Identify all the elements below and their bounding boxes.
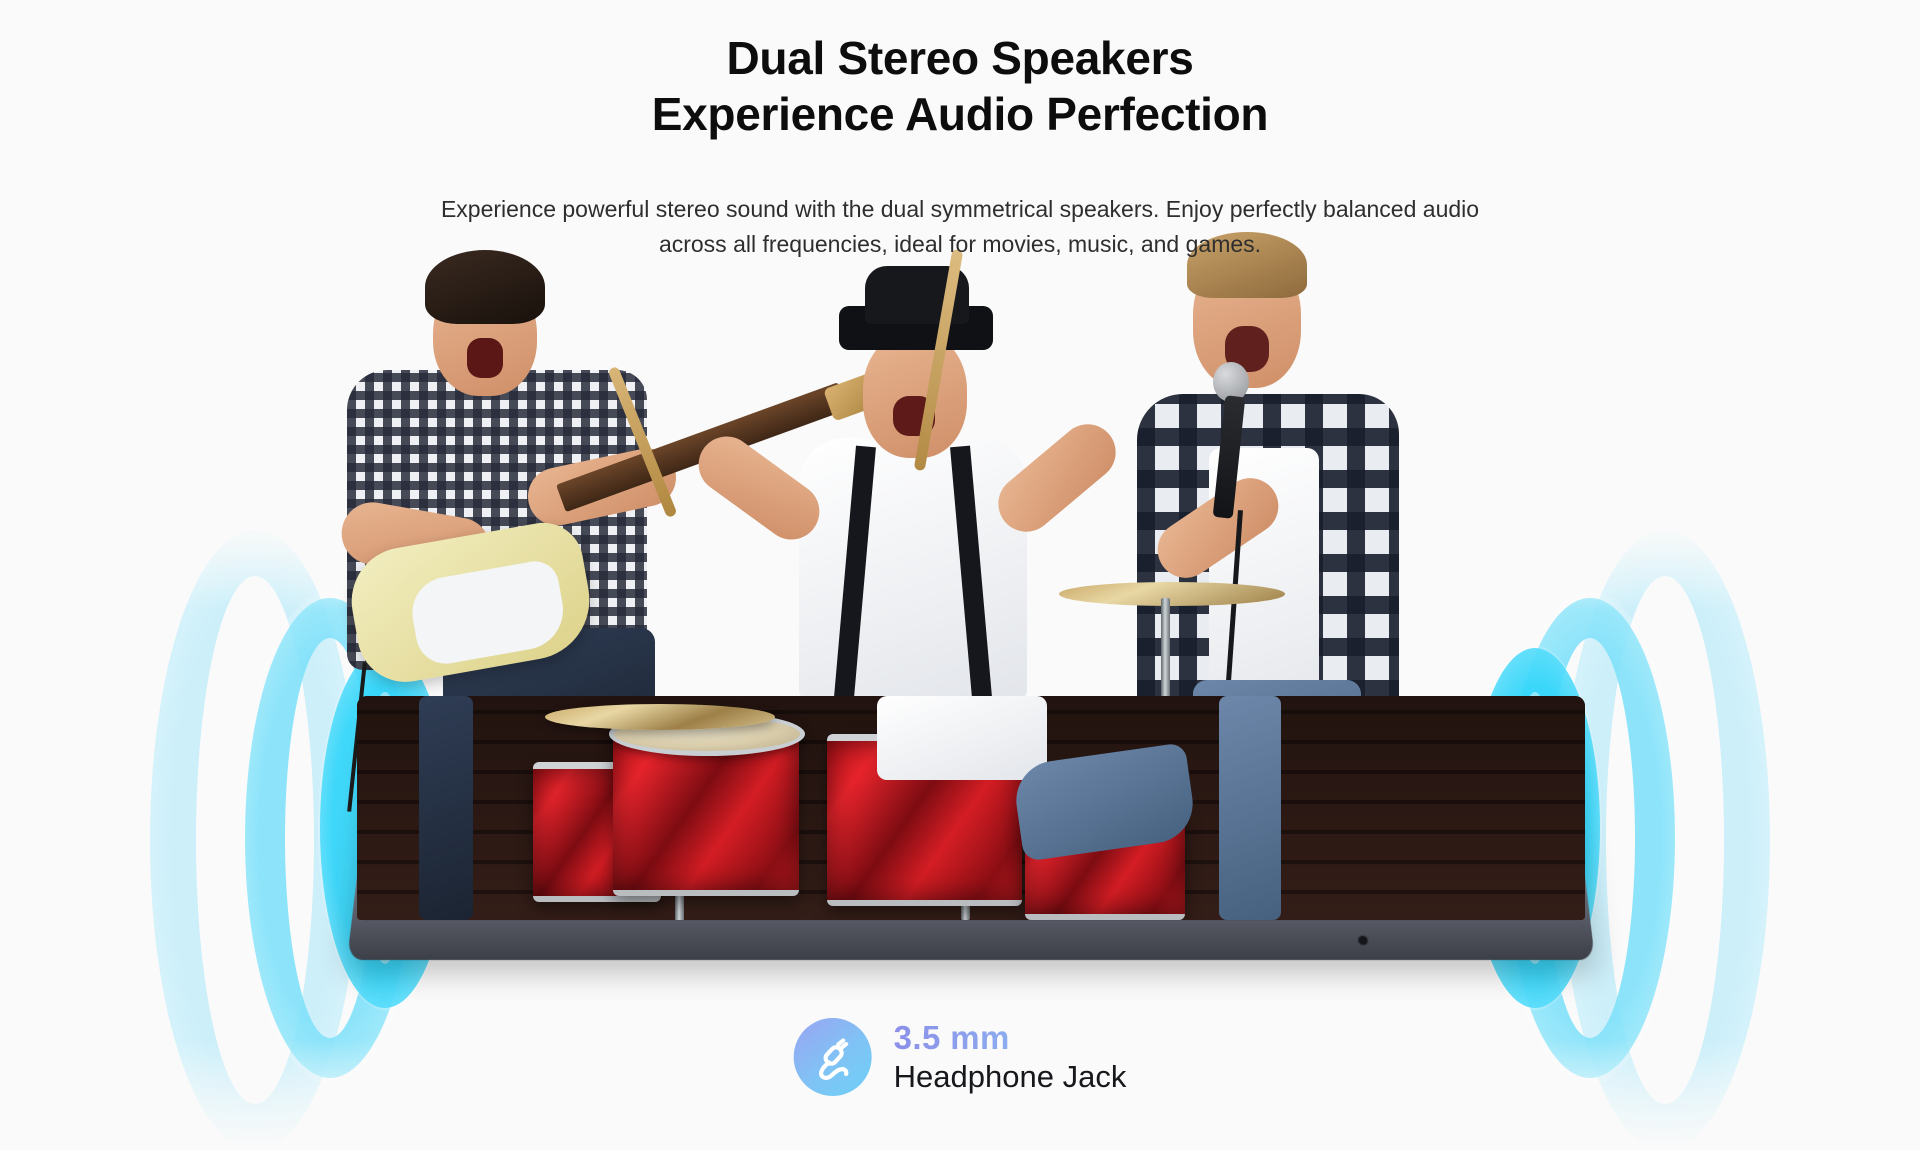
headline-line-1: Dual Stereo Speakers xyxy=(0,30,1920,86)
hero-headings: Dual Stereo Speakers Experience Audio Pe… xyxy=(0,30,1920,142)
badge-label: Headphone Jack xyxy=(894,1060,1127,1093)
badge-value: 3.5 mm xyxy=(894,1020,1127,1056)
singer-legs xyxy=(1219,696,1281,920)
badge-text-block: 3.5 mm Headphone Jack xyxy=(894,1020,1127,1093)
hero-subcopy: Experience powerful stereo sound with th… xyxy=(425,192,1495,261)
guitarist-legs xyxy=(419,696,473,920)
headline-line-2: Experience Audio Perfection xyxy=(0,86,1920,142)
sound-wave-graphics xyxy=(0,0,1920,1150)
headphone-jack-icon xyxy=(794,1018,872,1096)
camera-dot-icon xyxy=(1358,936,1368,945)
headphone-jack-badge: 3.5 mm Headphone Jack xyxy=(794,1018,1127,1096)
drummer-torso-inside xyxy=(877,696,1047,780)
cymbal-left xyxy=(545,704,775,730)
tablet-screen-content xyxy=(357,696,1585,920)
